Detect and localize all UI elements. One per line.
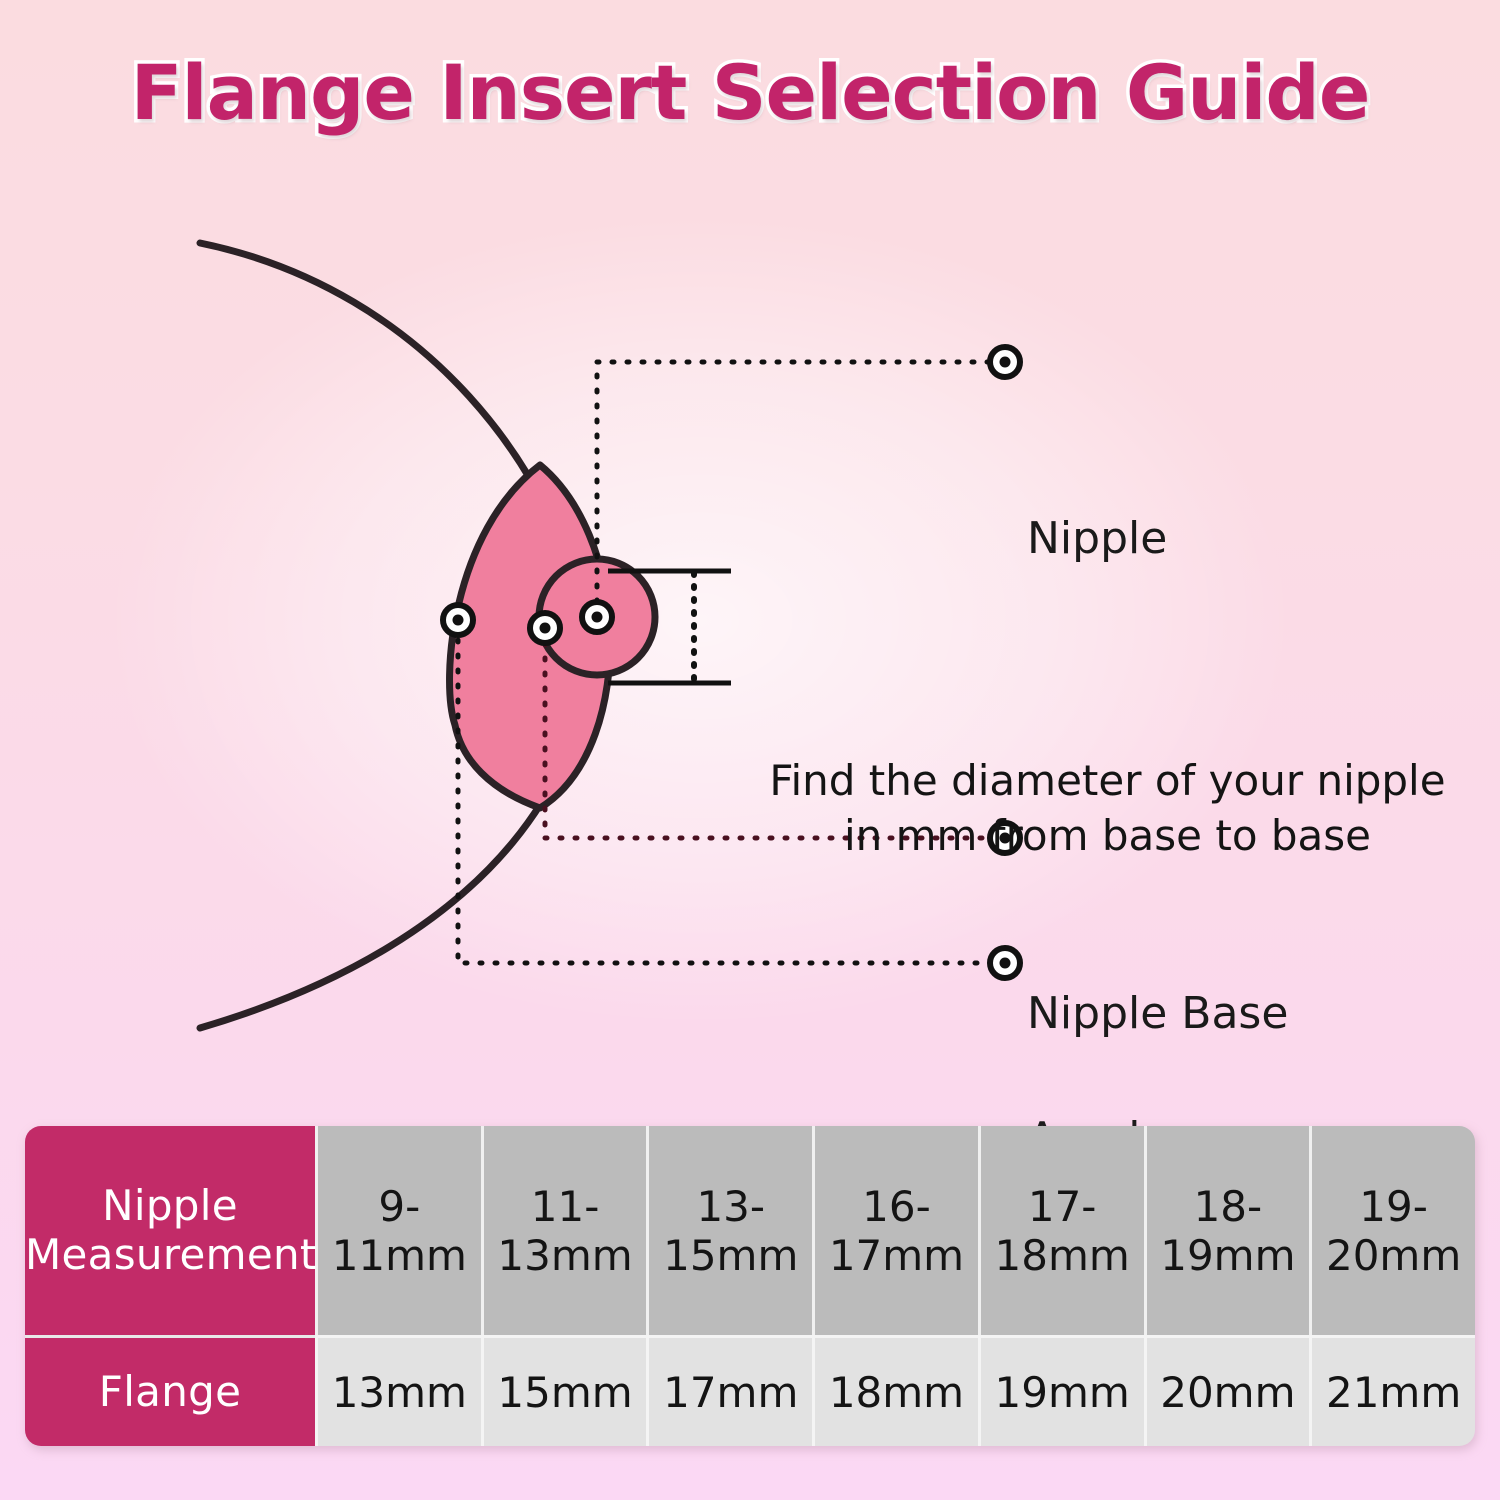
cell-measurement-5: 17-18mm [978,1126,1144,1335]
page-title-text: Flange Insert Selection Guide [131,48,1370,137]
instruction-line-2: in mm from base to base [745,809,1470,864]
areola-marker-icon [443,605,473,635]
cell-flange-6: 20mm [1144,1335,1310,1446]
anatomy-diagram: Nipple Nipple Base Areola Find the diame… [0,180,1500,1080]
anatomy-svg [0,180,1500,1080]
row-header-measurement-line2: Measurement [25,1231,315,1280]
page-title: Flange Insert Selection Guide [0,48,1500,137]
table-row-measurement: Nipple Measurement 9-11mm 11-13mm 13-15m… [25,1126,1475,1335]
label-nipple: Nipple [1027,517,1167,561]
table-row-flange: Flange 13mm 15mm 17mm 18mm 19mm 20mm 21m… [25,1335,1475,1446]
size-chart-table: Nipple Measurement 9-11mm 11-13mm 13-15m… [25,1126,1475,1446]
cell-flange-1: 13mm [315,1335,481,1446]
nipple-base-marker-icon [530,613,560,643]
size-chart: Nipple Measurement 9-11mm 11-13mm 13-15m… [25,1126,1475,1446]
instruction-text: Find the diameter of your nipple in mm f… [745,754,1470,863]
cell-measurement-4: 16-17mm [812,1126,978,1335]
cell-flange-3: 17mm [646,1335,812,1446]
cell-measurement-7: 19-20mm [1309,1126,1475,1335]
cell-flange-5: 19mm [978,1335,1144,1446]
cell-measurement-3: 13-15mm [646,1126,812,1335]
infographic-page: Flange Insert Selection Guide [0,0,1500,1500]
cell-flange-7: 21mm [1309,1335,1475,1446]
cell-measurement-2: 11-13mm [481,1126,647,1335]
cell-flange-4: 18mm [812,1335,978,1446]
row-header-measurement: Nipple Measurement [25,1126,315,1335]
nipple-leader-line [597,362,1000,617]
row-header-flange: Flange [25,1335,315,1446]
cell-measurement-1: 9-11mm [315,1126,481,1335]
label-nipple-base: Nipple Base [1027,992,1288,1036]
areola-label-marker-icon [990,948,1020,978]
nipple-marker-icon [582,602,612,632]
row-header-measurement-line1: Nipple [25,1182,315,1231]
nipple-label-marker-icon [990,347,1020,377]
cell-flange-2: 15mm [481,1335,647,1446]
cell-measurement-6: 18-19mm [1144,1126,1310,1335]
instruction-line-1: Find the diameter of your nipple [745,754,1470,809]
